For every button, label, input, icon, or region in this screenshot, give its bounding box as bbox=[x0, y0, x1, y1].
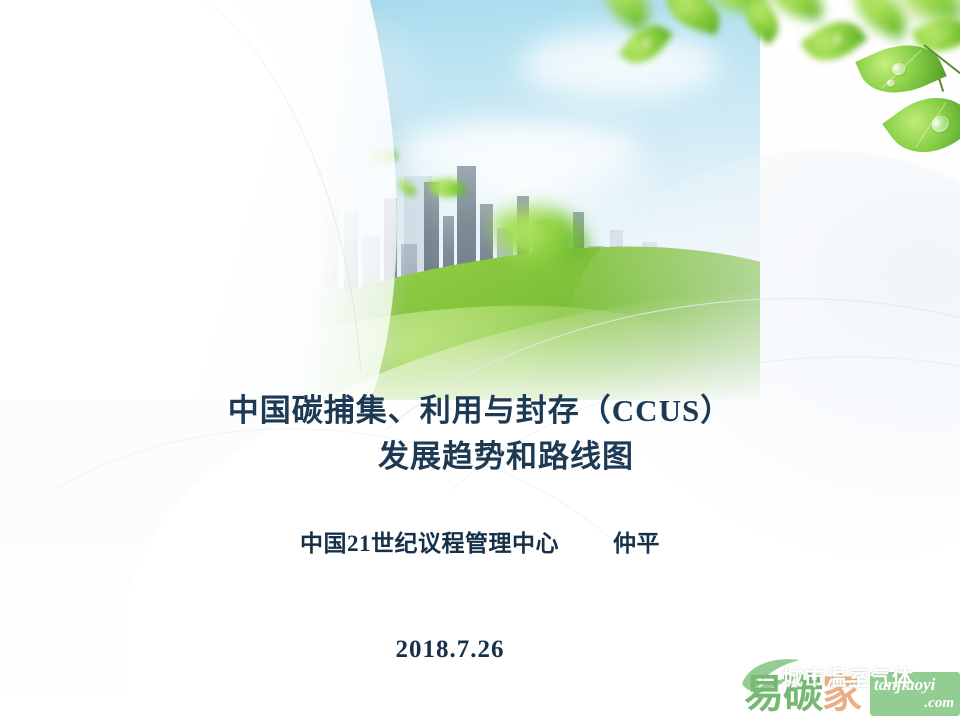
cloud-shape bbox=[520, 30, 720, 100]
presenter-organization: 中国21世纪议程管理中心 bbox=[300, 531, 559, 556]
page-title-line-2: 发展趋势和路线图 bbox=[0, 434, 960, 480]
logo-char-yi: 易 bbox=[744, 672, 783, 716]
page-title-line-1: 中国碳捕集、利用与封存（CCUS） bbox=[0, 388, 960, 434]
presentation-slide: 中国碳捕集、利用与封存（CCUS） 发展趋势和路线图 中国21世纪议程管理中心仲… bbox=[0, 0, 960, 720]
watermark-white-text: 城市温室气体 bbox=[782, 662, 914, 692]
title-block: 中国碳捕集、利用与封存（CCUS） 发展趋势和路线图 bbox=[0, 388, 960, 480]
dewdrop-icon bbox=[928, 112, 952, 136]
presenter-line: 中国21世纪议程管理中心仲平 bbox=[0, 524, 960, 558]
dewdrop-icon bbox=[890, 61, 908, 78]
presenter-name: 仲平 bbox=[613, 524, 660, 558]
watermark-logo-domain: .com bbox=[874, 694, 960, 713]
dewdrop-icon bbox=[886, 78, 896, 88]
